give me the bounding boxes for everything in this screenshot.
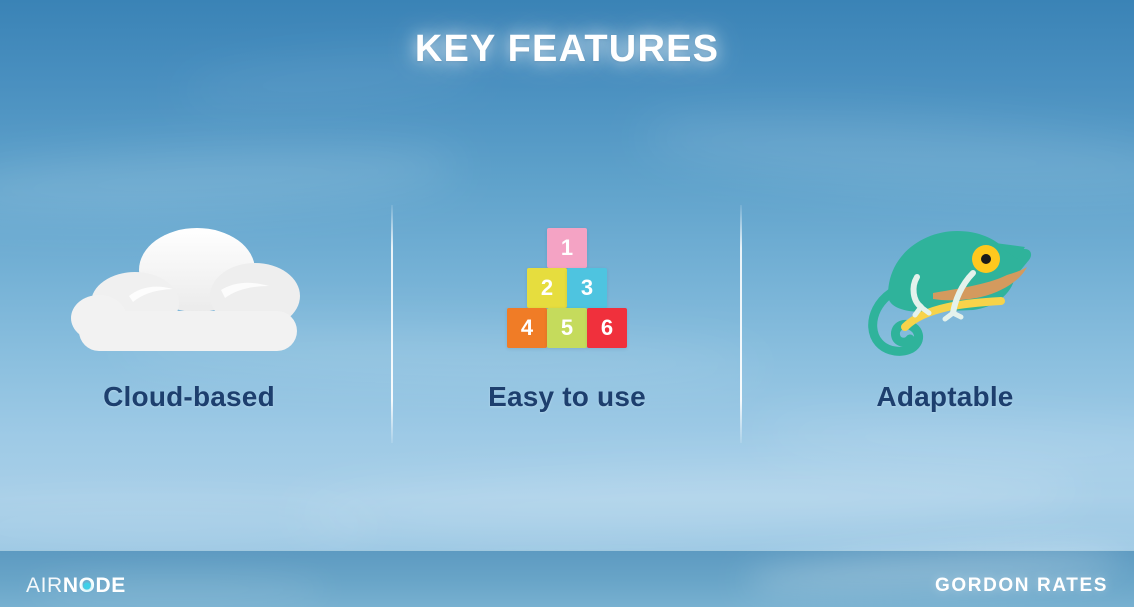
feature-cloud-based[interactable]: Cloud-based	[0, 200, 378, 450]
slide-canvas: KEY FEATURES	[0, 0, 1134, 607]
feature-list: Cloud-based 1 2 3 4 5 6	[0, 200, 1134, 450]
numbered-blocks-icon: 1 2 3 4 5 6	[502, 228, 632, 348]
cloud-icon	[69, 218, 309, 358]
logo-text-o: O	[79, 575, 96, 596]
logo-dot-icon	[84, 582, 91, 589]
brand-name: GORDON RATES	[935, 575, 1108, 597]
block-2: 2	[527, 268, 567, 308]
block-5: 5	[547, 308, 587, 348]
feature-adaptable[interactable]: Adaptable	[756, 200, 1134, 450]
feature-label-adaptable: Adaptable	[876, 381, 1013, 413]
logo-text-n: N	[63, 575, 79, 596]
sky-wisp	[638, 101, 1134, 210]
chameleon-icon	[855, 215, 1035, 360]
feature-label-easy-to-use: Easy to use	[488, 381, 646, 413]
feature-illustration	[69, 200, 309, 375]
logo-text-de: DE	[96, 575, 126, 596]
slide-title: KEY FEATURES	[0, 28, 1134, 71]
block-row-top: 1	[502, 228, 632, 268]
feature-easy-to-use[interactable]: 1 2 3 4 5 6 Easy to use	[378, 200, 756, 450]
block-3: 3	[567, 268, 607, 308]
block-6: 6	[587, 308, 627, 348]
sky-wisp	[299, 456, 1081, 547]
feature-label-cloud-based: Cloud-based	[103, 381, 275, 413]
footer-bar: AIRNODE GORDON RATES	[0, 550, 1134, 607]
sky-wisp	[0, 500, 380, 552]
airnode-logo[interactable]: AIRNODE	[26, 575, 126, 596]
block-row-middle: 2 3	[502, 268, 632, 308]
logo-text-air: AIR	[26, 575, 63, 596]
block-4: 4	[507, 308, 547, 348]
feature-illustration: 1 2 3 4 5 6	[502, 200, 632, 375]
feature-illustration	[855, 200, 1035, 375]
block-1: 1	[547, 228, 587, 268]
block-row-bottom: 4 5 6	[502, 308, 632, 348]
